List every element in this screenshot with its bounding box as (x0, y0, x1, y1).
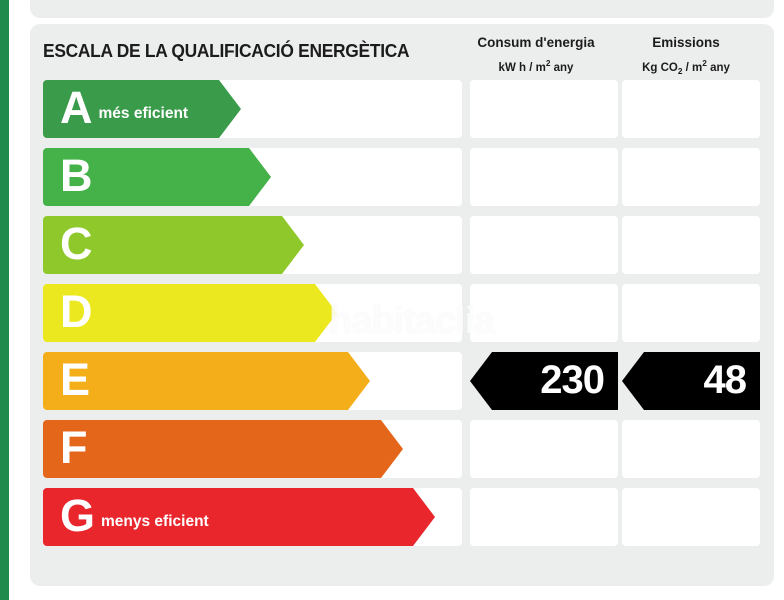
left-accent-stripe (0, 0, 9, 600)
grade-bar-f: F (43, 420, 403, 478)
energy-value-badge: 230 (470, 352, 618, 410)
energy-units-suffix: any (550, 62, 573, 74)
column-header-energy-units: kW h / m2 any (462, 55, 610, 77)
grade-letter: G (60, 493, 95, 538)
emissions-value-cell (622, 148, 760, 206)
grade-letter: F (60, 425, 88, 470)
energy-certificate-card: ESCALA DE LA QUALIFICACIÓ ENERGÈTICA Con… (30, 24, 774, 586)
grade-letter: A (60, 85, 93, 130)
energy-value-cell (470, 216, 618, 274)
rating-scale-rows: Amés eficientBCDE23048FGmenys eficient (30, 80, 774, 556)
rating-row-c: C (30, 216, 774, 274)
energy-value-cell (470, 420, 618, 478)
emissions-value-cell (622, 488, 760, 546)
emissions-value-cell (622, 420, 760, 478)
rating-row-b: B (30, 148, 774, 206)
column-header-emissions-units: Kg CO2 / m2 any (612, 55, 760, 81)
emissions-units-prefix: Kg CO (642, 62, 678, 74)
grade-letter: B (60, 153, 93, 198)
energy-value: 230 (540, 360, 604, 400)
column-header-emissions: Emissions Kg CO2 / m2 any (612, 34, 760, 81)
emissions-value-cell (622, 80, 760, 138)
grade-letter: E (60, 357, 90, 402)
column-header-energy: Consum d'energia kW h / m2 any (462, 34, 610, 77)
energy-value-cell (470, 488, 618, 546)
grade-bar-c: C (43, 216, 304, 274)
rating-row-d: D (30, 284, 774, 342)
grade-caption: menys eficient (101, 513, 209, 531)
column-header-emissions-label: Emissions (612, 34, 760, 52)
chart-header: ESCALA DE LA QUALIFICACIÓ ENERGÈTICA Con… (30, 24, 774, 80)
energy-value-cell (470, 148, 618, 206)
grade-bar-d: D (43, 284, 337, 342)
page-title: ESCALA DE LA QUALIFICACIÓ ENERGÈTICA (43, 40, 409, 62)
column-header-energy-label: Consum d'energia (462, 34, 610, 52)
rating-row-f: F (30, 420, 774, 478)
rating-row-e: E23048 (30, 352, 774, 410)
emissions-value-badge: 48 (622, 352, 760, 410)
grade-letter: C (60, 221, 93, 266)
grade-bar-a: Amés eficient (43, 80, 241, 138)
previous-card-edge (30, 0, 774, 18)
energy-value-cell (470, 284, 618, 342)
grade-bar-g: Gmenys eficient (43, 488, 435, 546)
emissions-value: 48 (704, 360, 747, 400)
emissions-units-suffix: any (707, 62, 730, 74)
grade-bar-e: E (43, 352, 370, 410)
emissions-units-mid: / m (682, 62, 702, 74)
emissions-value-cell (622, 216, 760, 274)
grade-caption: més eficient (99, 105, 189, 123)
energy-value-cell (470, 80, 618, 138)
emissions-value-cell (622, 284, 760, 342)
grade-letter: D (60, 289, 93, 334)
rating-row-a: Amés eficient (30, 80, 774, 138)
energy-units-prefix: kW h / m (499, 62, 546, 74)
rating-row-g: Gmenys eficient (30, 488, 774, 546)
grade-bar-b: B (43, 148, 271, 206)
